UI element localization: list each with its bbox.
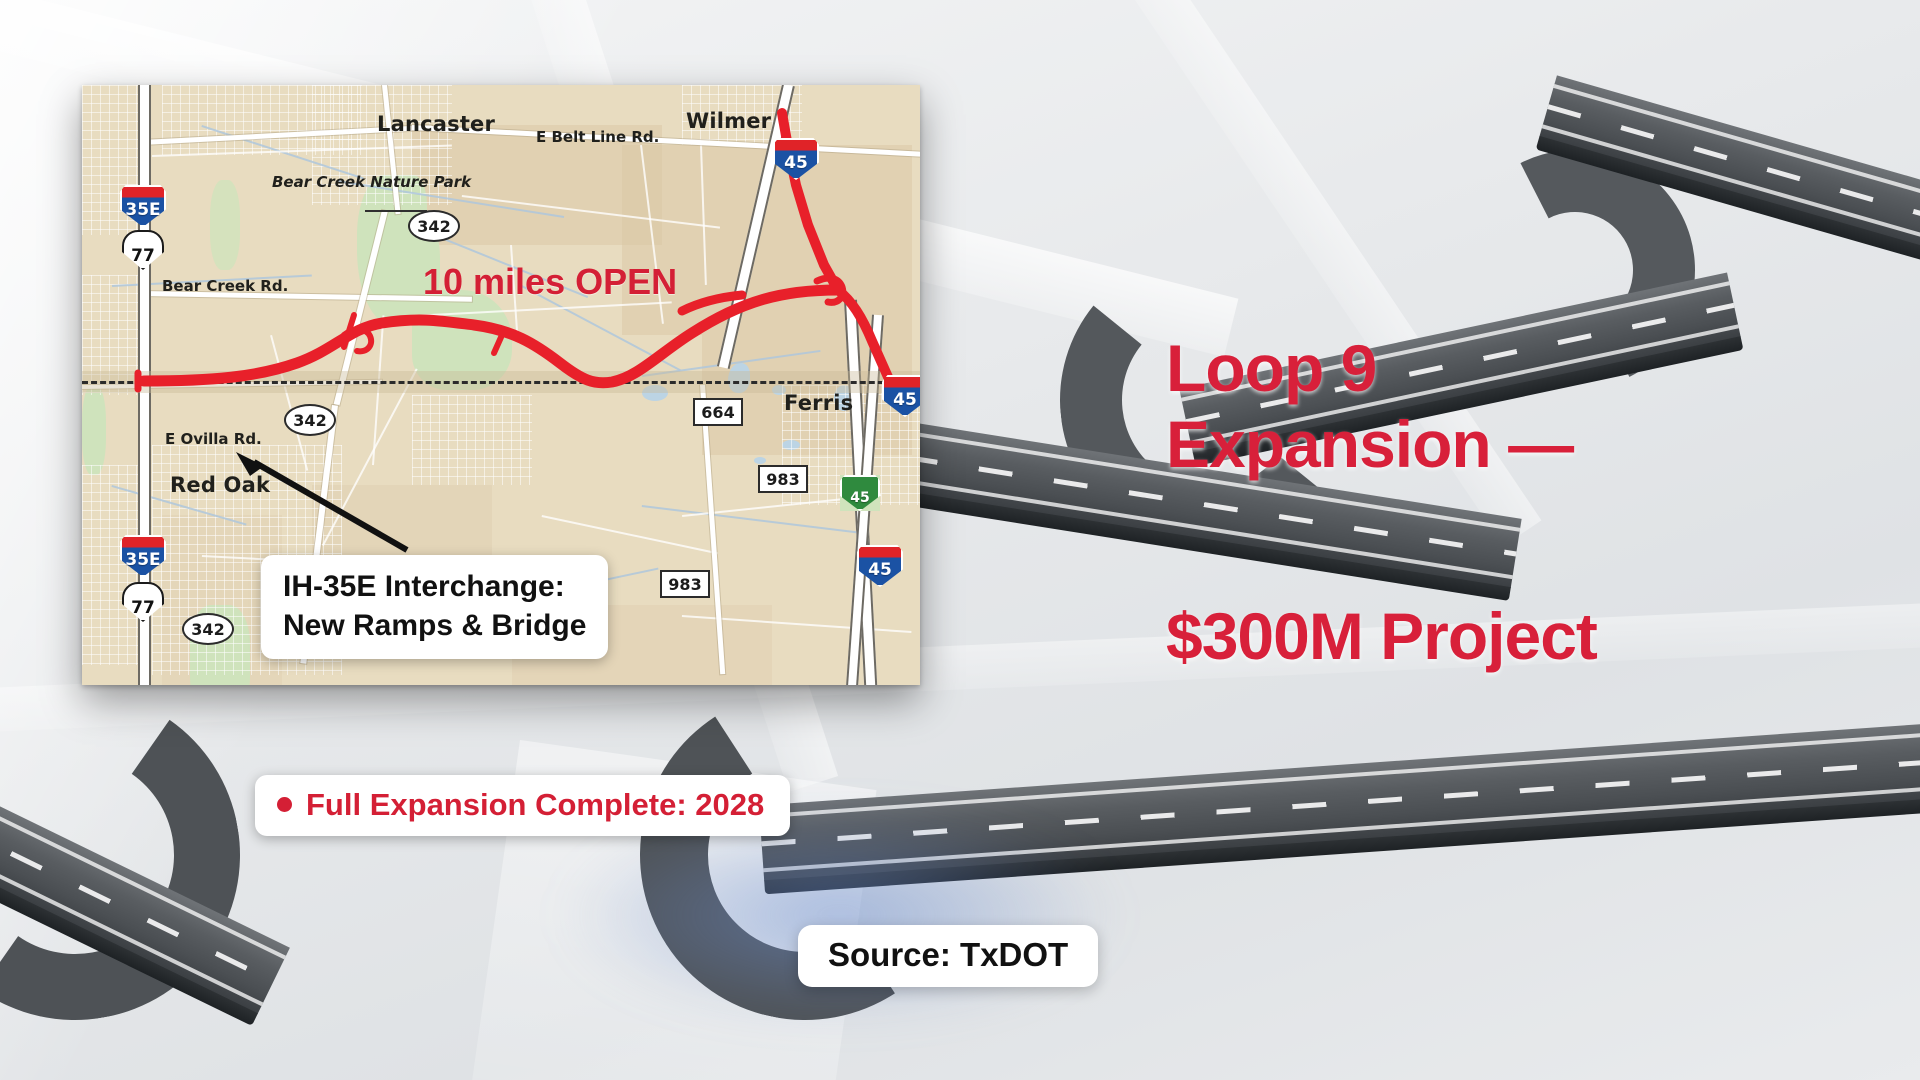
shield-label: 45 [868, 560, 892, 587]
headline-line1: Loop 9 [1166, 331, 1376, 405]
map-shield-us-77: 77 [122, 582, 164, 622]
callout-completion-text: Full Expansion Complete: 2028 [306, 785, 764, 824]
callout-interchange: IH-35E Interchange: New Ramps & Bridge [261, 555, 608, 659]
map-shield-sh-342: 342 [284, 404, 336, 436]
source-box: Source: TxDOT [798, 925, 1098, 987]
map-leader-line [365, 210, 427, 212]
headline-line2: Expansion — [1166, 407, 1573, 481]
map-open-miles-label: 10 miles OPEN [423, 261, 677, 303]
bullet-icon [277, 797, 292, 812]
map-shield-interstate-35e: 35E [120, 185, 166, 227]
headline: Loop 9Expansion — [1166, 330, 1573, 482]
shield-label: 45 [850, 490, 869, 511]
map-road-label-bear-creek: Bear Creek Rd. [162, 277, 288, 295]
callout-interchange-line2: New Ramps & Bridge [283, 606, 586, 645]
map-road-label-e-ovilla: E Ovilla Rd. [165, 430, 262, 448]
background-blue-glow [560, 810, 1120, 1020]
callout-interchange-line1: IH-35E Interchange: [283, 567, 586, 606]
map-shield-interstate-45: 45 [882, 375, 920, 417]
shield-label: 35E [125, 200, 160, 227]
headline-subline: $300M Project [1166, 600, 1597, 672]
map-shield-fm-983: 983 [758, 465, 808, 493]
map-city-label-wilmer: Wilmer [686, 109, 771, 133]
source-label: Source: TxDOT [828, 936, 1068, 974]
callout-completion: Full Expansion Complete: 2028 [255, 775, 790, 836]
map-shield-sh-342: 342 [408, 210, 460, 242]
map-shield-sh-342: 342 [182, 613, 234, 645]
map-shield-business-45: 45 [840, 475, 880, 511]
map-road-label-belt-line: E Belt Line Rd. [536, 128, 659, 146]
map-shield-fm-664: 664 [693, 398, 743, 426]
shield-label: 77 [131, 246, 155, 266]
map-shield-fm-983: 983 [660, 570, 710, 598]
shield-label: 45 [893, 390, 917, 417]
map-city-label-ferris: Ferris [784, 391, 853, 415]
shield-label: 45 [784, 153, 808, 180]
map-park-label-bear-creek-nature-park: Bear Creek Nature Park [272, 174, 471, 191]
shield-label: 35E [125, 550, 160, 577]
map-shield-interstate-35e: 35E [120, 535, 166, 577]
map-shield-interstate-45: 45 [857, 545, 903, 587]
map-shield-us-77: 77 [122, 230, 164, 270]
map-shield-interstate-45: 45 [773, 138, 819, 180]
shield-label: 77 [131, 598, 155, 618]
map-pointer-arrow [222, 450, 422, 560]
map-city-label-lancaster: Lancaster [377, 112, 495, 136]
